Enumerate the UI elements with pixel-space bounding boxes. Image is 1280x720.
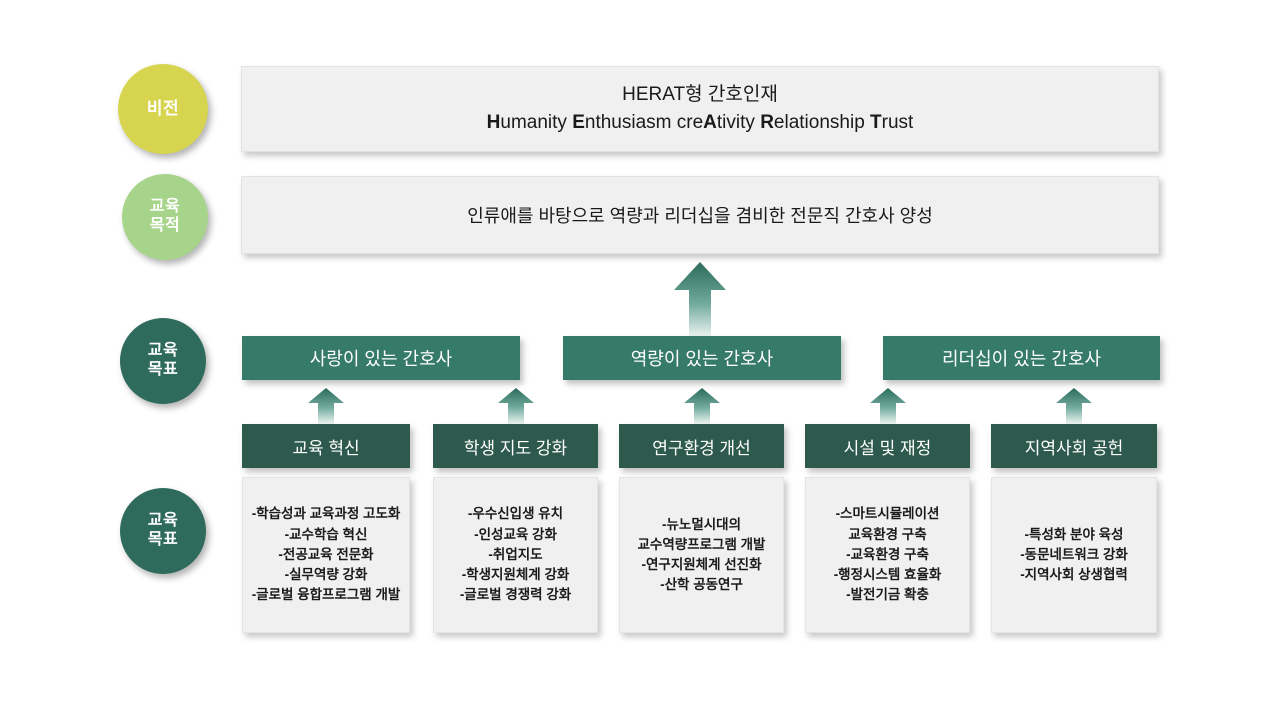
strategy-item: -발전기금 확충 [846, 585, 929, 605]
vision-circle: 비전 [118, 64, 208, 154]
strategy-column: 교육 혁신-학습성과 교육과정 고도화-교수학습 혁신-전공교육 전문화-실무역… [242, 424, 410, 633]
strategy-item: -행정시스템 효율화 [834, 565, 942, 585]
strategy-item: -스마트시뮬레이션 [836, 504, 940, 524]
strategy-column: 연구환경 개선-뉴노멀시대의교수역량프로그램 개발-연구지원체계 선진화-산학 … [619, 424, 784, 633]
up-arrow-icon [684, 388, 720, 424]
strategy-item: -뉴노멀시대의 [662, 515, 741, 535]
goal-bar-2-label: 리더십이 있는 간호사 [942, 345, 1101, 371]
strategy-title: 시설 및 재정 [805, 424, 970, 468]
goal-circle-upper-label-line2: 목표 [148, 361, 178, 380]
strategy-item: -교육환경 구축 [846, 545, 929, 565]
purpose-banner: 인류애를 바탕으로 역량과 리더십을 겸비한 전문직 간호사 양성 [241, 176, 1159, 254]
strategy-item: -학습성과 교육과정 고도화 [252, 504, 401, 524]
strategy-column: 지역사회 공헌-특성화 분야 육성-동문네트워크 강화-지역사회 상생협력 [991, 424, 1157, 633]
strategy-item: -지역사회 상생협력 [1020, 565, 1128, 585]
strategy-item-list: -뉴노멀시대의교수역량프로그램 개발-연구지원체계 선진화-산학 공동연구 [619, 477, 784, 633]
strategy-item-list: -스마트시뮬레이션교육환경 구축-교육환경 구축-행정시스템 효율화-발전기금 … [805, 477, 970, 633]
vision-acronym-part-5: tivity [717, 112, 760, 133]
goal-bar-1-label: 역량이 있는 간호사 [631, 345, 773, 371]
vision-acronym-part-2: E [572, 112, 585, 133]
strategy-title: 연구환경 개선 [619, 424, 784, 468]
up-arrow-icon [1056, 388, 1092, 424]
vision-banner-line2: Humanity Enthusiasm creAtivity Relations… [487, 109, 914, 138]
strategy-item: -글로벌 경쟁력 강화 [460, 585, 571, 605]
vision-acronym-part-1: umanity [500, 112, 572, 133]
strategy-item: -인성교육 강화 [474, 525, 557, 545]
up-arrow-icon [498, 388, 534, 424]
strategy-item: -동문네트워크 강화 [1020, 545, 1128, 565]
strategy-item: 교육환경 구축 [848, 525, 926, 545]
strategy-item: -글로벌 융합프로그램 개발 [252, 585, 401, 605]
goal-circle-upper: 교육 목표 [120, 318, 206, 404]
purpose-circle: 교육 목적 [122, 174, 208, 260]
vision-acronym-part-3: nthusiasm cre [585, 112, 703, 133]
strategy-item: -특성화 분야 육성 [1025, 525, 1124, 545]
goal-bar-2: 리더십이 있는 간호사 [883, 336, 1160, 380]
purpose-circle-label-line1: 교육 [150, 198, 180, 217]
vision-banner: HERAT형 간호인재 Humanity Enthusiasm creAtivi… [241, 66, 1159, 152]
strategy-item: -우수신입생 유치 [468, 504, 563, 524]
vision-acronym-part-4: A [703, 112, 717, 133]
vision-acronym-part-9: rust [882, 112, 914, 133]
goal-bar-1: 역량이 있는 간호사 [563, 336, 841, 380]
goal-circle-lower: 교육 목표 [120, 488, 206, 574]
goal-circle-upper-label-line1: 교육 [148, 342, 178, 361]
goal-bar-0: 사랑이 있는 간호사 [242, 336, 520, 380]
up-arrow-icon [870, 388, 906, 424]
vision-circle-label: 비전 [147, 99, 179, 119]
purpose-circle-label-line2: 목적 [150, 217, 180, 236]
strategy-item: -연구지원체계 선진화 [641, 555, 761, 575]
vision-acronym-part-7: elationship [774, 112, 870, 133]
vision-acronym-part-8: T [870, 112, 882, 133]
strategy-item: -취업지도 [488, 545, 542, 565]
strategy-column: 학생 지도 강화-우수신입생 유치-인성교육 강화-취업지도-학생지원체계 강화… [433, 424, 598, 633]
purpose-banner-text: 인류애를 바탕으로 역량과 리더십을 겸비한 전문직 간호사 양성 [467, 202, 933, 228]
vision-banner-line1: HERAT형 간호인재 [487, 81, 914, 110]
goal-circle-lower-label-line2: 목표 [148, 531, 178, 550]
goal-bar-0-label: 사랑이 있는 간호사 [310, 345, 452, 371]
diagram-canvas: 비전 HERAT형 간호인재 Humanity Enthusiasm creAt… [0, 0, 1280, 720]
strategy-title: 교육 혁신 [242, 424, 410, 468]
strategy-title: 지역사회 공헌 [991, 424, 1157, 468]
strategy-item-list: -특성화 분야 육성-동문네트워크 강화-지역사회 상생협력 [991, 477, 1157, 633]
vision-acronym-part-6: R [760, 112, 774, 133]
goal-circle-lower-label-line1: 교육 [148, 512, 178, 531]
strategy-item: 교수역량프로그램 개발 [638, 535, 766, 555]
up-arrow-icon [308, 388, 344, 424]
strategy-item: -산학 공동연구 [660, 575, 743, 595]
strategy-item: -전공교육 전문화 [278, 545, 373, 565]
up-arrow-icon [674, 262, 726, 336]
vision-acronym-part-0: H [487, 112, 501, 133]
strategy-column: 시설 및 재정-스마트시뮬레이션교육환경 구축-교육환경 구축-행정시스템 효율… [805, 424, 970, 633]
strategy-item-list: -우수신입생 유치-인성교육 강화-취업지도-학생지원체계 강화-글로벌 경쟁력… [433, 477, 598, 633]
strategy-item-list: -학습성과 교육과정 고도화-교수학습 혁신-전공교육 전문화-실무역량 강화-… [242, 477, 410, 633]
strategy-title: 학생 지도 강화 [433, 424, 598, 468]
strategy-item: -교수학습 혁신 [285, 525, 368, 545]
strategy-item: -실무역량 강화 [285, 565, 368, 585]
strategy-item: -학생지원체계 강화 [462, 565, 570, 585]
